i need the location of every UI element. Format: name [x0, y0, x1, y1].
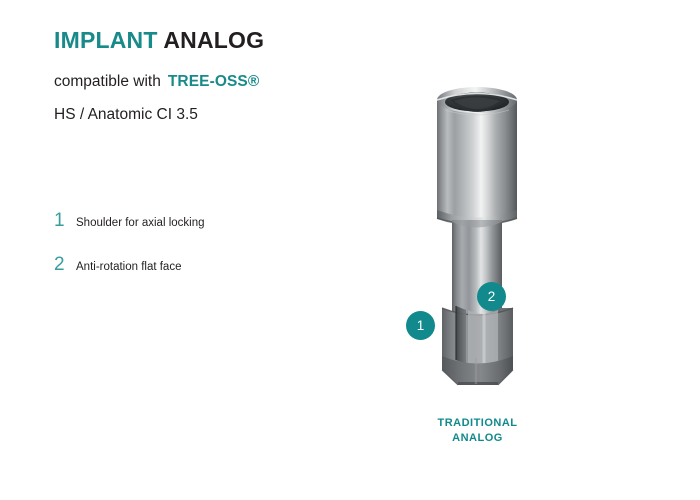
figure-caption: TRADITIONAL ANALOG [400, 416, 555, 446]
callout-badge-2[interactable]: 2 [477, 282, 506, 311]
implant-analog-illustration [380, 70, 610, 400]
text-column: IMPLANT ANALOG compatible withTREE-OSS® … [54, 28, 414, 123]
model-designation: HS / Anatomic CI 3.5 [54, 106, 414, 123]
callout-badge-1[interactable]: 1 [406, 311, 435, 340]
feature-label: Anti-rotation flat face [76, 261, 181, 275]
feature-label: Shoulder for axial locking [76, 217, 205, 231]
page-title-main: ANALOG [163, 27, 264, 53]
feature-list: 1 Shoulder for axial locking 2 Anti-rota… [54, 211, 384, 275]
compatibility-line: compatible withTREE-OSS® [54, 73, 414, 90]
feature-number: 1 [54, 211, 76, 230]
implant-analog-figure [380, 70, 610, 400]
feature-number: 2 [54, 255, 76, 274]
feature-item: 2 Anti-rotation flat face [54, 255, 384, 275]
figure-caption-line1: TRADITIONAL [400, 416, 555, 431]
analog-upper-barrel [437, 87, 517, 218]
page-title: IMPLANT ANALOG [54, 28, 414, 53]
compatibility-prefix: compatible with [54, 73, 161, 90]
page-title-accent: IMPLANT [54, 27, 158, 53]
figure-caption-line2: ANALOG [400, 431, 555, 446]
compatibility-brand: TREE-OSS® [168, 73, 260, 90]
feature-item: 1 Shoulder for axial locking [54, 211, 384, 231]
